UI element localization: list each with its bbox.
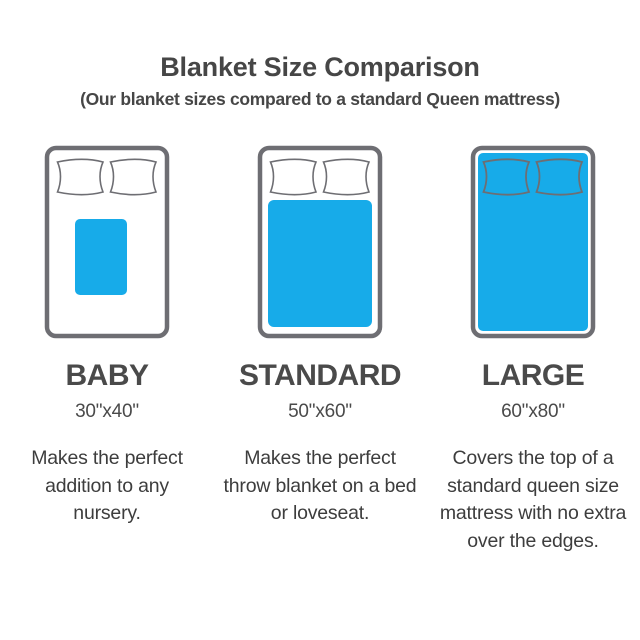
size-column-baby: BABY 30"x40" Makes the perfect addition … (1, 145, 214, 528)
bed-diagram-baby (42, 145, 172, 343)
pillow-right-icon (324, 159, 370, 194)
pillow-left-icon (271, 159, 317, 194)
bed-diagram-standard (255, 145, 385, 343)
bed-top-view-icon (257, 145, 383, 339)
size-dimensions-baby: 30"x40" (75, 402, 139, 421)
size-dimensions-large: 60"x80" (501, 402, 565, 421)
page-title: Blanket Size Comparison (0, 52, 640, 82)
blanket-shape (268, 200, 372, 327)
size-dimensions-standard: 50"x60" (288, 402, 352, 421)
size-description-large: Covers the top of a standard queen size … (435, 445, 631, 556)
blanket-shape (75, 219, 127, 295)
size-name-standard: STANDARD (239, 361, 401, 391)
bed-top-view-icon (470, 145, 596, 339)
size-column-large: LARGE 60"x80" Covers the top of a standa… (427, 145, 640, 556)
pillow-left-icon (58, 159, 104, 194)
bed-top-view-icon (44, 145, 170, 339)
pillow-right-icon (111, 159, 157, 194)
size-column-standard: STANDARD 50"x60" Makes the perfect throw… (214, 145, 427, 528)
size-name-baby: BABY (65, 361, 148, 391)
header: Blanket Size Comparison (Our blanket siz… (0, 52, 640, 110)
size-description-standard: Makes the perfect throw blanket on a bed… (222, 445, 418, 528)
size-columns: BABY 30"x40" Makes the perfect addition … (0, 145, 640, 556)
page-subtitle: (Our blanket sizes compared to a standar… (0, 89, 640, 110)
bed-diagram-large (468, 145, 598, 343)
size-description-baby: Makes the perfect addition to any nurser… (9, 445, 205, 528)
blanket-shape (478, 153, 588, 331)
size-name-large: LARGE (482, 361, 585, 391)
blanket-size-comparison-infographic: Blanket Size Comparison (Our blanket siz… (0, 0, 640, 640)
